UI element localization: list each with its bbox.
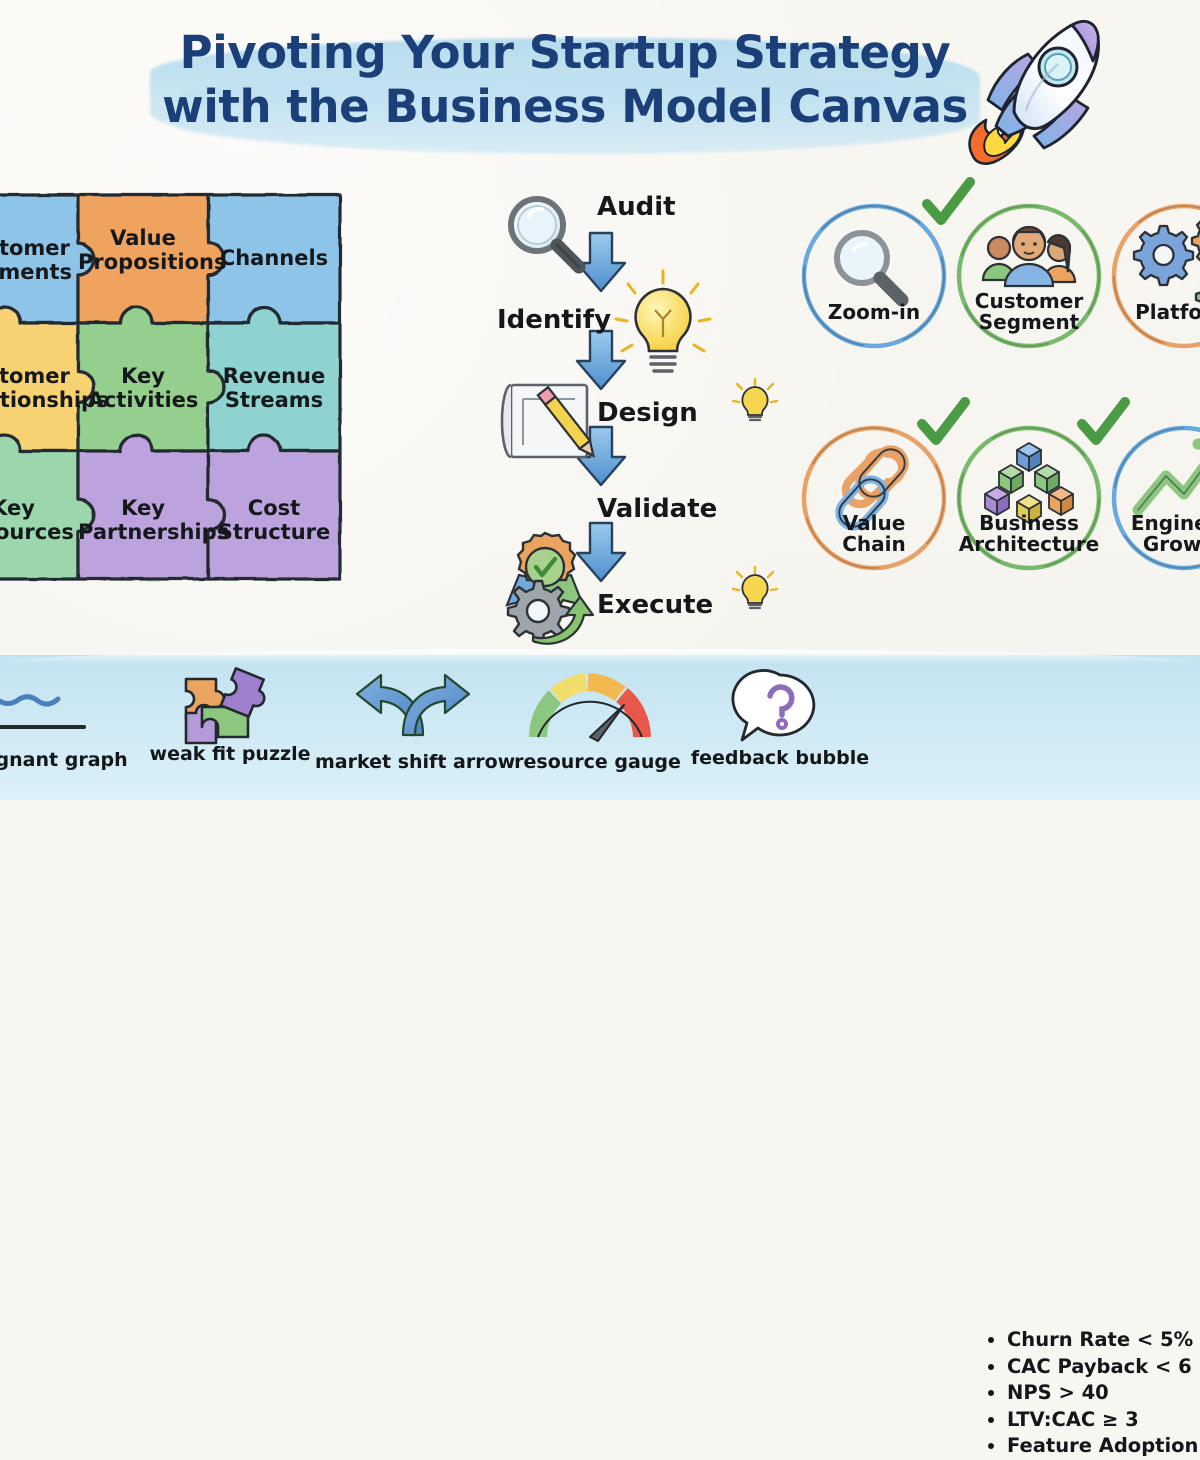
focus-circle-business-architecture[interactable]: Business Architecture: [955, 424, 1103, 572]
legend-item-weak-fit-puzzle[interactable]: weak fit puzzle: [140, 665, 320, 765]
process-step-label-validate[interactable]: Validate: [597, 494, 717, 524]
lightbulb-icon: [732, 378, 778, 424]
signals-legend: stagnant graph weak fit puzzle: [0, 655, 1200, 800]
kpi-item: Feature Adoption ≥ 70%: [1007, 1433, 1200, 1460]
puzzle-grid-svg: [0, 185, 410, 640]
page-title-line2: with the Business Model Canvas: [150, 80, 980, 134]
focus-circle-value-chain[interactable]: Value Chain: [800, 424, 948, 572]
process-step-label-design[interactable]: Design: [597, 398, 698, 428]
lightbulb-icon: [732, 566, 778, 612]
growth-chart-icon: [1110, 424, 1200, 572]
focus-area-circles: Zoom-in: [760, 178, 1200, 648]
kpi-item: NPS > 40: [1007, 1380, 1200, 1407]
focus-circle-engine-of-growth[interactable]: Engine of Growth: [1110, 424, 1200, 572]
focus-circle-platform[interactable]: Platform: [1110, 202, 1200, 350]
kpi-item: CAC Payback < 6 months: [1007, 1354, 1200, 1381]
gear-arrow-icon: [503, 575, 603, 645]
legend-item-market-shift-arrow[interactable]: market shift arrow: [315, 673, 515, 773]
page-title: Pivoting Your Startup Strategy with the …: [150, 26, 980, 135]
question-bubble-icon: [690, 669, 870, 749]
cubes-icon: [955, 424, 1103, 572]
fork-arrow-icon: [315, 673, 515, 749]
pivot-process-flow: Audit Identify Design Validate Execute: [495, 185, 720, 645]
legend-item-stagnant-graph[interactable]: stagnant graph: [0, 671, 130, 771]
legend-item-feedback-bubble[interactable]: feedback bubble: [690, 669, 870, 769]
process-step-label-execute[interactable]: Execute: [597, 590, 713, 620]
blueprint-pencil-icon: [502, 385, 599, 460]
business-model-canvas-puzzle: Customer Segments Value Propositions Cha…: [0, 185, 410, 640]
legend-label: feedback bubble: [690, 747, 870, 769]
focus-circle-customer-segment[interactable]: Customer Segment: [955, 202, 1103, 350]
gauge-icon: [510, 673, 685, 749]
flat-line-graph-icon: [0, 671, 130, 749]
lightbulb-icon: [616, 271, 710, 371]
kpi-targets: Churn Rate < 5% CAC Payback < 6 months N…: [985, 1327, 1200, 1460]
rocket-icon: [952, 8, 1102, 173]
gears-icon: [1110, 202, 1200, 350]
magnifier-icon: [511, 199, 579, 267]
legend-label: resource gauge: [510, 751, 685, 773]
kpi-item: Churn Rate < 5%: [1007, 1327, 1200, 1354]
process-step-label-identify[interactable]: Identify: [497, 305, 611, 335]
legend-label: stagnant graph: [0, 749, 130, 771]
legend-item-resource-gauge[interactable]: resource gauge: [510, 673, 685, 773]
focus-circle-zoom-in[interactable]: Zoom-in: [800, 202, 948, 350]
puzzle-pieces-icon: [140, 665, 320, 749]
kpi-item: LTV:CAC ≥ 3: [1007, 1407, 1200, 1434]
process-step-label-audit[interactable]: Audit: [597, 192, 676, 222]
chain-link-icon: [800, 424, 948, 572]
magnifier-icon: [800, 202, 948, 350]
people-icon: [955, 202, 1103, 350]
legend-label: market shift arrow: [315, 751, 515, 773]
page-title-line1: Pivoting Your Startup Strategy: [180, 26, 951, 79]
infographic-canvas: Pivoting Your Startup Strategy with the …: [0, 0, 1200, 800]
